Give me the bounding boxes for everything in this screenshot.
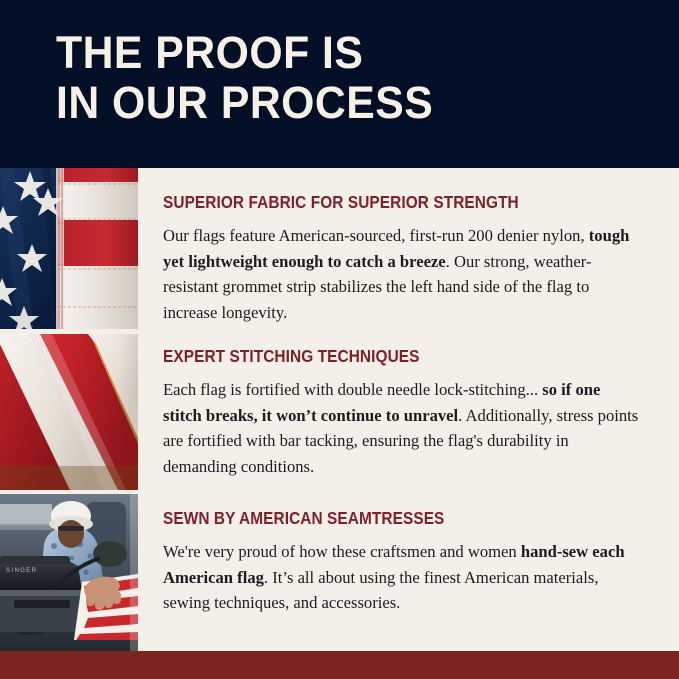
section-heading: EXPERT STITCHING TECHNIQUES — [163, 346, 582, 366]
section-body: Each flag is fortified with double needl… — [163, 377, 639, 479]
infographic-page: THE PROOF IS IN OUR PROCESS — [0, 0, 679, 679]
section-expert-stitching: EXPERT STITCHING TECHNIQUES Each flag is… — [163, 346, 639, 479]
section-heading: SUPERIOR FABRIC FOR SUPERIOR STRENGTH — [163, 192, 582, 212]
flag-stitching-closeup-photo — [0, 334, 138, 490]
section-sewn-by-american-seamtresses: SEWN BY AMERICAN SEAMTRESSES We're very … — [163, 508, 639, 616]
section-superior-fabric: SUPERIOR FABRIC FOR SUPERIOR STRENGTH Ou… — [163, 192, 639, 325]
page-header-banner: THE PROOF IS IN OUR PROCESS — [0, 0, 679, 168]
american-flag-closeup-photo — [0, 168, 138, 329]
page-title: THE PROOF IS IN OUR PROCESS — [56, 28, 433, 128]
text-column: SUPERIOR FABRIC FOR SUPERIOR STRENGTH Ou… — [163, 168, 643, 651]
svg-text:SINGER: SINGER — [6, 568, 37, 574]
seamstress-sewing-photo: SINGER — [0, 494, 138, 651]
bottom-accent-bar — [0, 651, 679, 679]
section-body: Our flags feature American-sourced, firs… — [163, 223, 639, 325]
photo-column: SINGER — [0, 168, 138, 651]
section-body: We're very proud of how these craftsmen … — [163, 539, 639, 616]
content-area: SINGER — [0, 168, 679, 651]
section-heading: SEWN BY AMERICAN SEAMTRESSES — [163, 508, 582, 528]
